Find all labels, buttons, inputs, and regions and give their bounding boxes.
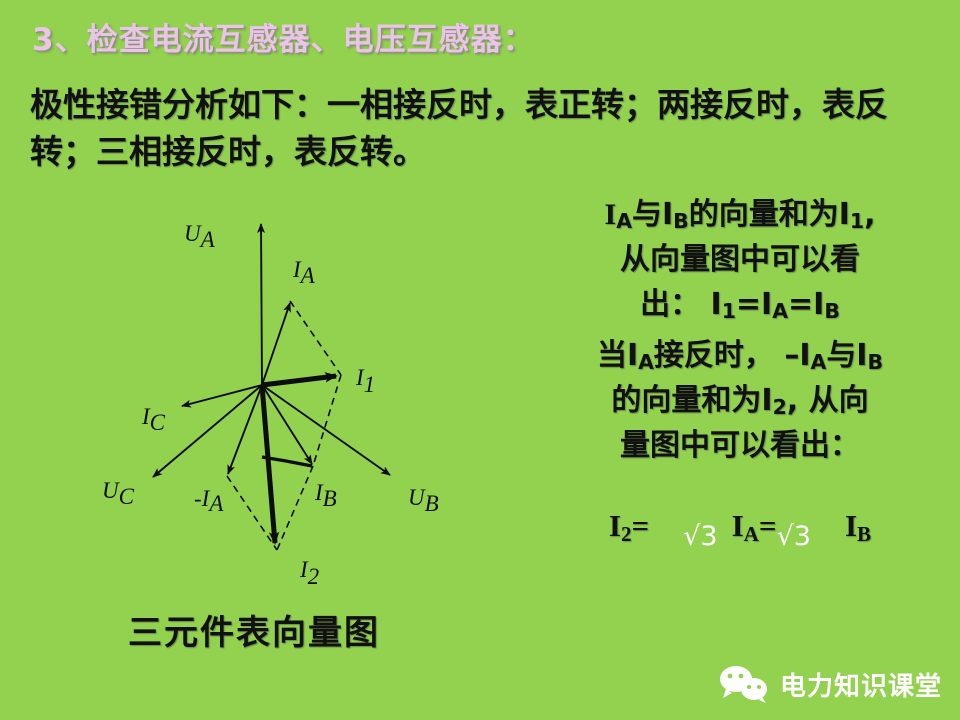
p1-l1-tail: , xyxy=(864,197,875,232)
construction-lines xyxy=(227,301,341,550)
label-ub: UB xyxy=(408,485,439,516)
p1-l3-mid: =I xyxy=(736,287,772,322)
label-ib: IB xyxy=(314,480,337,511)
explanation-paragraph-1: IA与IB的向量和为I1, 从向量图中可以看 出： I1=IA=IB xyxy=(530,192,950,327)
label-i2-sub: 2 xyxy=(308,564,320,589)
vector-ua xyxy=(261,224,262,385)
thin-vectors xyxy=(153,224,390,477)
explanation-paragraph-2: 当IA接反时， –IA与IB 的向量和为I2, 从向 量图中可以看出： xyxy=(530,333,950,468)
p2-l1-mid: 接反时， –I xyxy=(654,338,811,373)
vector-i1 xyxy=(262,376,336,385)
label-i2: I2 xyxy=(299,557,319,589)
explanation-p2-line1: 当IA接反时， –IA与IB xyxy=(530,333,950,378)
formula-lhs-sub: 2 xyxy=(621,522,632,546)
wechat-watermark: 电力知识课堂 xyxy=(718,664,942,704)
label-ia-sub: A xyxy=(299,263,316,288)
explanation-p1-line1: IA与IB的向量和为I1, xyxy=(530,192,950,237)
wechat-icon xyxy=(718,664,770,704)
p1-l1-sub-a: A xyxy=(616,209,632,233)
diagram-caption: 三元件表向量图 xyxy=(128,605,380,654)
formula-term-a-sub: A xyxy=(744,522,759,546)
formula-term-a: I xyxy=(732,508,744,543)
explanation-p1-line2: 从向量图中可以看 xyxy=(530,237,950,282)
label-ic-sub: C xyxy=(150,410,166,435)
p1-l3-sub-b: B xyxy=(824,299,840,323)
label-ua-sub: A xyxy=(199,227,216,252)
p2-l2-post: , 从向 xyxy=(787,383,869,418)
p2-l2-pre: 的向量和为I xyxy=(611,383,772,418)
p2-l1-sub-b: B xyxy=(867,350,883,374)
label-ua: UA xyxy=(184,221,216,252)
p1-l3-sub-a: A xyxy=(772,299,788,323)
label-ub-base: U xyxy=(408,485,426,510)
p2-l1-sub-a: A xyxy=(638,350,654,374)
wechat-account-name: 电力知识课堂 xyxy=(780,666,942,703)
dashed-ia-to-i1 xyxy=(290,301,341,375)
label-i1-sub: 1 xyxy=(364,372,376,397)
p1-l1-pre: I xyxy=(605,198,617,231)
p1-l1-sub-1: 1 xyxy=(850,209,864,233)
label-ic: IC xyxy=(141,404,166,435)
formula-lhs: I xyxy=(609,508,621,543)
p2-l1-post: 与I xyxy=(826,338,867,373)
explanation-p1-line3: 出： I1=IA=IB xyxy=(530,282,950,327)
formula-equals-2: = xyxy=(759,508,777,543)
label-uc: UC xyxy=(102,478,135,509)
formula-term-b-sub: B xyxy=(857,522,871,546)
formula-term-b: I xyxy=(845,508,857,543)
formula-line: I2=√3IA=√3IB xyxy=(530,508,950,544)
diagram-labels: UA IA I1 IC UC -IA IB UB xyxy=(102,221,439,589)
p2-l1-sub-a2: A xyxy=(811,350,827,374)
p1-l3-sub-1: 1 xyxy=(722,299,736,323)
label-neg-ia-sub: A xyxy=(207,491,224,516)
vector-diagram: UA IA I1 IC UC -IA IB UB xyxy=(0,0,520,620)
p1-l1-sub-b: B xyxy=(673,209,689,233)
vector-i2 xyxy=(262,385,275,543)
p1-l1-post: 的向量和为I xyxy=(689,197,850,232)
formula-equals-1: = xyxy=(632,508,650,543)
dashed-ib-to-i2 xyxy=(277,466,313,550)
label-ib-sub: B xyxy=(323,486,337,511)
label-ia: IA xyxy=(292,257,316,288)
dashed-i1-to-ib xyxy=(313,375,341,466)
label-neg-ia: -IA xyxy=(194,486,224,516)
explanation-block: IA与IB的向量和为I1, 从向量图中可以看 出： I1=IA=IB 当IA接反… xyxy=(530,192,950,474)
label-uc-sub: C xyxy=(119,484,135,509)
label-neg-ia-base: -I xyxy=(194,486,211,511)
p2-l2-sub-2: 2 xyxy=(773,395,787,419)
slide-canvas: 3、检查电流互感器、电压互感器： 极性接错分析如下：一相接反时，表正转；两接反时… xyxy=(0,0,960,720)
label-ua-base: U xyxy=(184,221,202,246)
p1-l3-pre: 出： I xyxy=(640,287,722,322)
vector-ia xyxy=(262,303,290,385)
explanation-p2-line3: 量图中可以看出： xyxy=(530,423,950,468)
p2-l1-pre: 当I xyxy=(597,338,638,373)
explanation-p2-line2: 的向量和为I2, 从向 xyxy=(530,378,950,423)
label-uc-base: U xyxy=(102,478,120,503)
p1-l3-post: =I xyxy=(788,287,824,322)
formula-radical-2: √3 xyxy=(777,521,811,552)
formula-radical-1: √3 xyxy=(683,521,717,552)
label-i1: I1 xyxy=(355,365,375,397)
label-ub-sub: B xyxy=(425,491,439,516)
p1-l1-mid: 与I xyxy=(632,197,673,232)
